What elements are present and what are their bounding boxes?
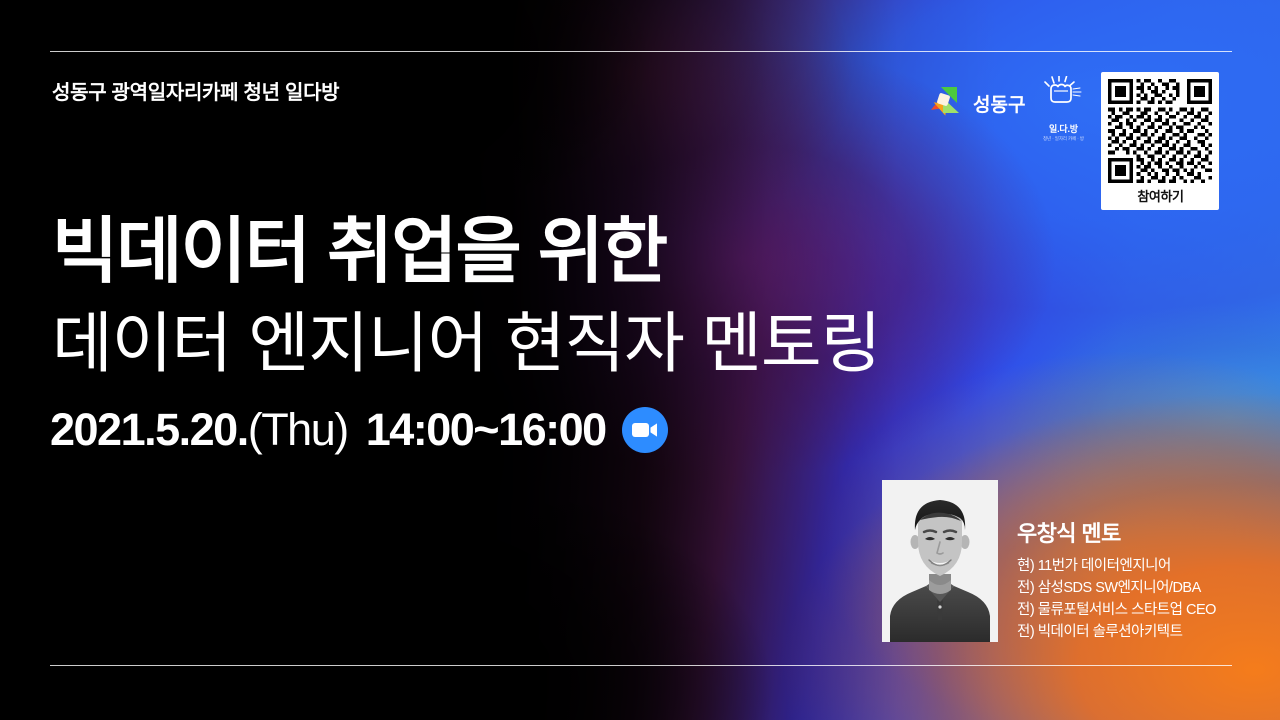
page-title-line1: 빅데이터 취업을 위한 bbox=[52, 216, 666, 288]
seongdong-logo: 성동구 bbox=[930, 86, 1025, 120]
program-logo-subtitle: 청년 · 일자리 카페 · 방 bbox=[1043, 136, 1084, 142]
mentor-portrait-photo bbox=[882, 480, 998, 642]
qr-participate-label: 참여하기 bbox=[1137, 186, 1183, 205]
page-title-line2: 데이터 엔지니어 현직자 멘토링 bbox=[52, 310, 880, 376]
divider-bottom bbox=[50, 665, 1232, 666]
program-logo-label: 일.다.방 bbox=[1049, 122, 1078, 135]
seongdong-pinwheel-logo-icon bbox=[930, 86, 966, 120]
event-poster: 성동구 광역일자리카페 청년 일다방 성동구 bbox=[0, 0, 1280, 720]
mentor-name: 우창식 멘토 bbox=[1017, 516, 1216, 548]
raised-fist-icon bbox=[1040, 76, 1086, 121]
qr-participate-card[interactable]: 참여하기 bbox=[1101, 72, 1219, 210]
mentor-credential: 전) 물류포털서비스 스타트업 CEO bbox=[1017, 599, 1216, 621]
mentor-credential: 전) 빅데이터 솔루션아키텍트 bbox=[1017, 621, 1216, 643]
mentor-credential: 현) 11번가 데이터엔지니어 bbox=[1017, 555, 1216, 577]
program-logo: 일.다.방 청년 · 일자리 카페 · 방 bbox=[1035, 76, 1091, 142]
event-weekday: (Thu) bbox=[248, 404, 348, 456]
organizer-kicker: 성동구 광역일자리카페 청년 일다방 bbox=[52, 76, 339, 105]
divider-top bbox=[50, 51, 1232, 52]
event-time: 14:00~16:00 bbox=[366, 404, 606, 456]
qr-code-icon[interactable] bbox=[1108, 79, 1212, 183]
seongdong-logo-label: 성동구 bbox=[973, 90, 1025, 117]
event-datetime: 2021.5.20. (Thu) 14:00~16:00 bbox=[50, 404, 668, 456]
mentor-info: 우창식 멘토 현) 11번가 데이터엔지니어 전) 삼성SDS SW엔지니어/D… bbox=[1017, 516, 1216, 643]
mentor-credential: 전) 삼성SDS SW엔지니어/DBA bbox=[1017, 577, 1216, 599]
zoom-video-camera-icon bbox=[622, 407, 668, 453]
logo-row: 성동구 bbox=[930, 72, 1219, 210]
event-date: 2021.5.20. bbox=[50, 404, 248, 456]
